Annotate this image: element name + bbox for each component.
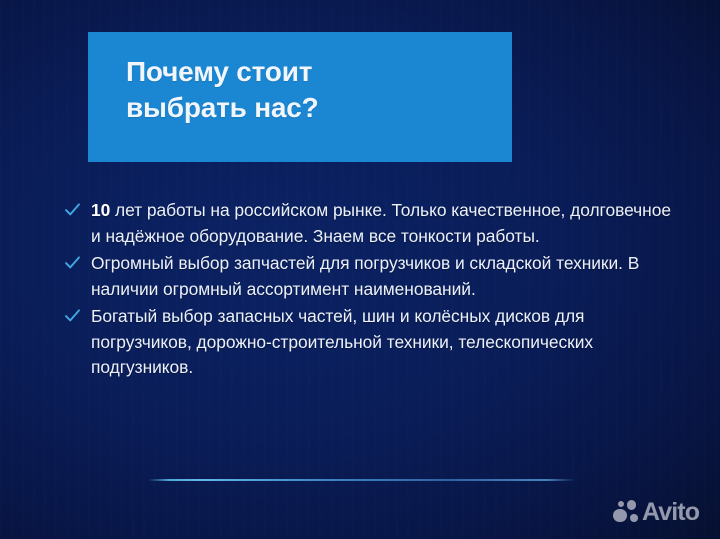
list-item-text: лет работы на российском рынке. Только к…	[91, 200, 671, 246]
list-item-text: Богатый выбор запасных частей, шин и кол…	[91, 306, 593, 377]
title-card: Почему стоит выбрать нас?	[88, 32, 512, 162]
list-item-lead: 10	[91, 200, 110, 220]
check-icon	[64, 307, 81, 324]
avito-wordmark: Avito	[642, 500, 699, 525]
list-item: Богатый выбор запасных частей, шин и кол…	[62, 304, 672, 381]
list-item: Огромный выбор запчастей для погрузчиков…	[62, 251, 672, 302]
list-item: 10 лет работы на российском рынке. Тольк…	[62, 198, 672, 249]
divider	[148, 479, 576, 481]
benefits-list: 10 лет работы на российском рынке. Тольк…	[62, 198, 672, 383]
page-title: Почему стоит выбрать нас?	[126, 54, 512, 127]
check-icon	[64, 254, 81, 271]
check-icon	[64, 201, 81, 218]
slide-canvas: Почему стоит выбрать нас? 10 лет работы …	[0, 0, 720, 539]
avito-dots-icon	[613, 500, 638, 525]
list-item-text: Огромный выбор запчастей для погрузчиков…	[91, 253, 639, 299]
avito-watermark: Avito	[613, 500, 699, 525]
